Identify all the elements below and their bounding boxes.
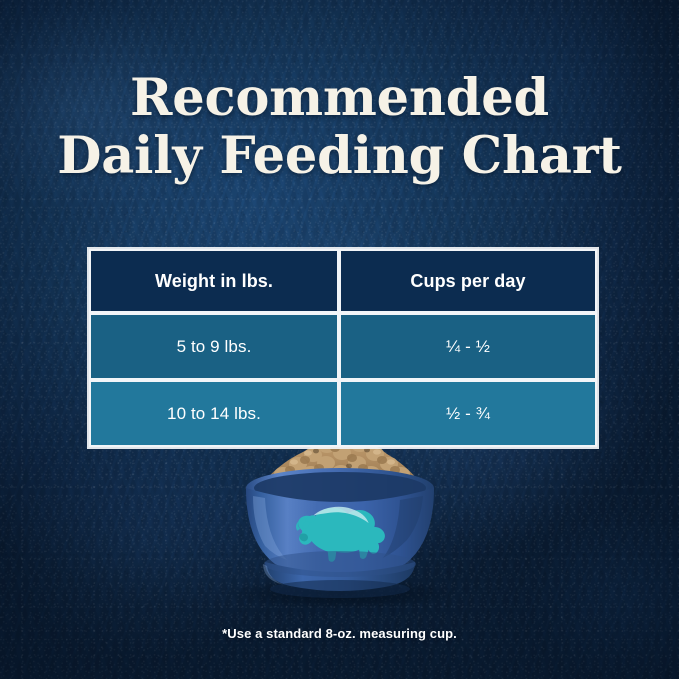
table-header-weight: Weight in lbs. xyxy=(89,249,339,313)
bowl-foot-top xyxy=(264,551,416,577)
feeding-chart-table: Weight in lbs. Cups per day 5 to 9 lbs. … xyxy=(89,249,597,447)
table-header-cups: Cups per day xyxy=(339,249,597,313)
page-title-line-2: Daily Feeding Chart xyxy=(0,130,679,182)
feeding-chart-page: Recommended Daily Feeding Chart Weight i… xyxy=(0,0,679,679)
table-row: 10 to 14 lbs. ½ - ¾ xyxy=(89,380,597,447)
table-row: 5 to 9 lbs. ¼ - ½ xyxy=(89,313,597,380)
cell-weight-2: 10 to 14 lbs. xyxy=(89,380,339,447)
cell-cups-1: ¼ - ½ xyxy=(339,313,597,380)
cell-weight-1: 5 to 9 lbs. xyxy=(89,313,339,380)
table-header: Weight in lbs. Cups per day xyxy=(89,249,597,313)
table-body: 5 to 9 lbs. ¼ - ½ 10 to 14 lbs. ½ - ¾ xyxy=(89,313,597,447)
table-header-row: Weight in lbs. Cups per day xyxy=(89,249,597,313)
page-title-line-1: Recommended xyxy=(0,72,679,124)
dog-food-bowl-illustration xyxy=(195,430,485,610)
page-title: Recommended Daily Feeding Chart xyxy=(0,72,679,182)
footnote-text: *Use a standard 8-oz. measuring cup. xyxy=(0,626,679,641)
bowl-foot-base xyxy=(270,580,410,598)
cell-cups-2: ½ - ¾ xyxy=(339,380,597,447)
